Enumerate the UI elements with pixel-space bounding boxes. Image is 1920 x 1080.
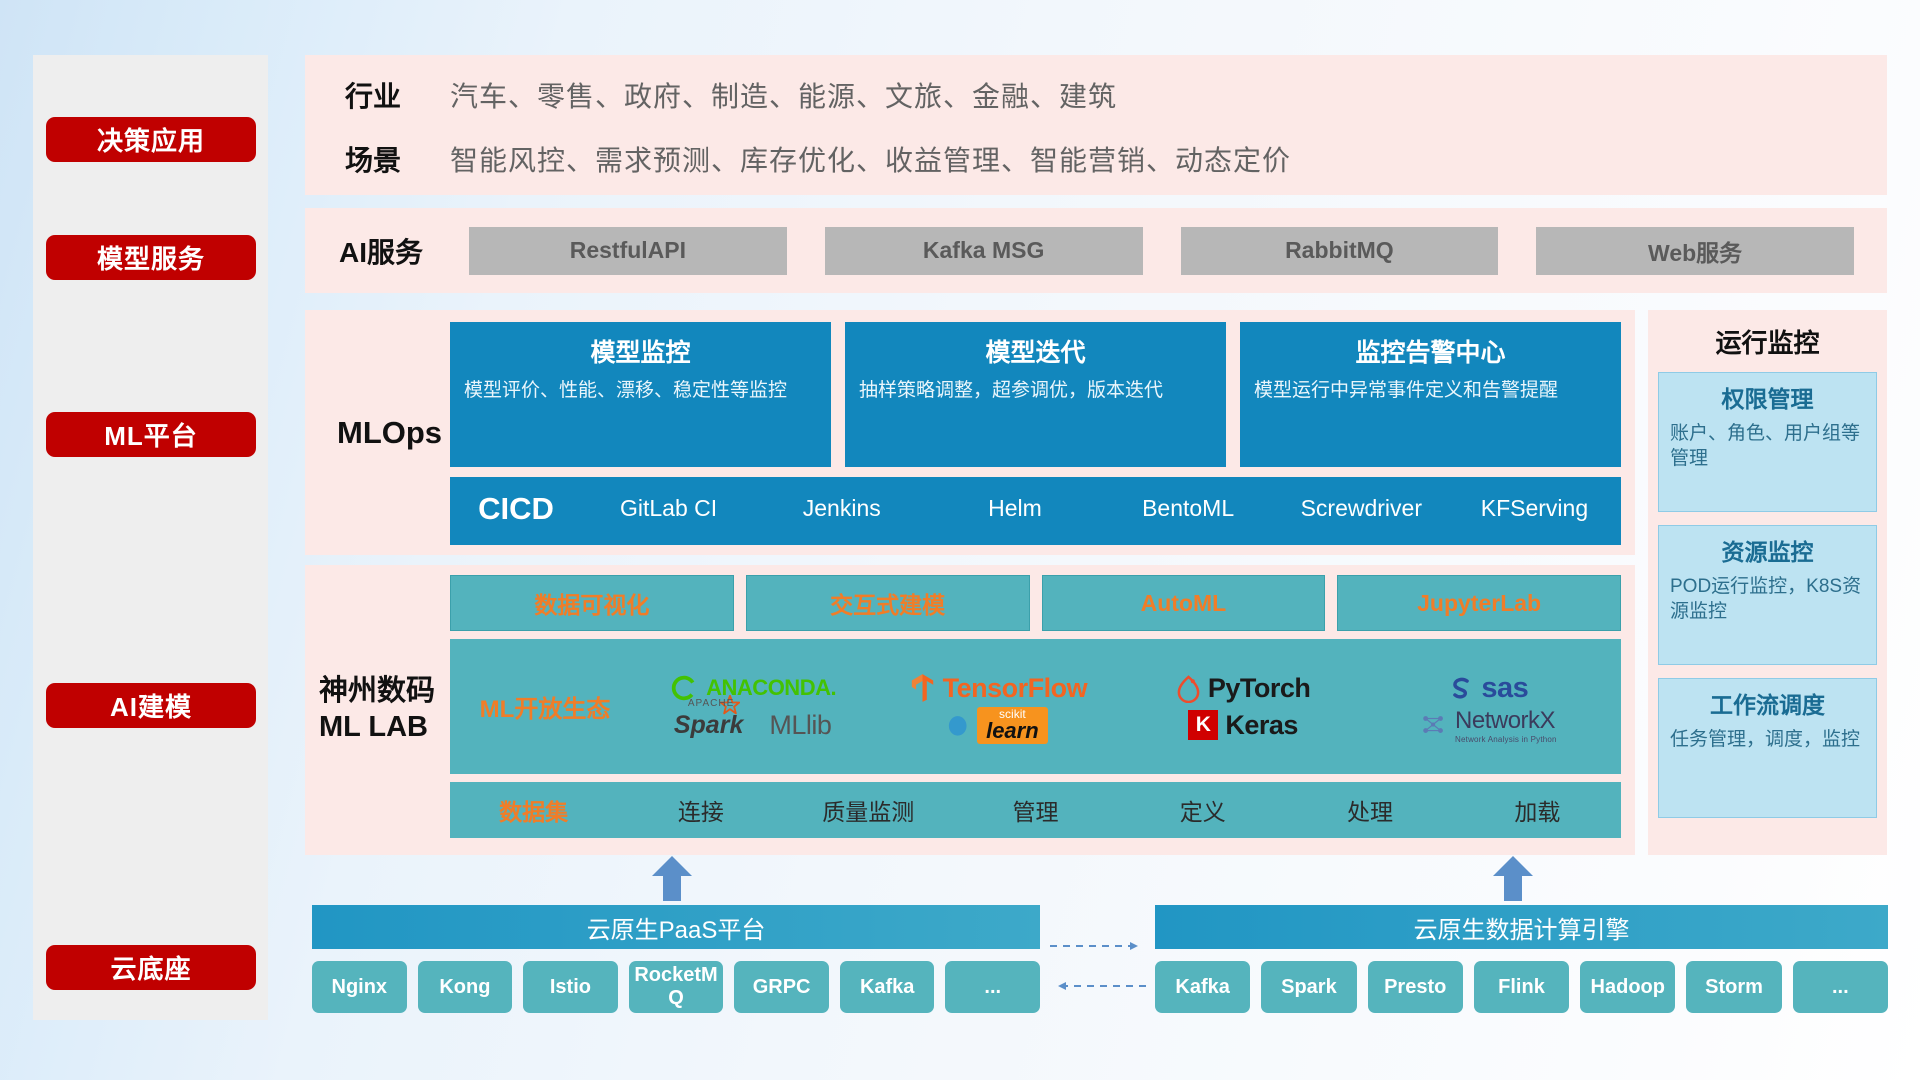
card-title: 权限管理: [1670, 380, 1865, 414]
monitor-card-resource[interactable]: 资源监控 POD运行监控，K8S资源监控: [1658, 525, 1877, 665]
spark-apache-text: APACHE: [688, 698, 734, 709]
scenario-value: 智能风控、需求预测、库存优化、收益管理、智能营销、动态定价: [450, 139, 1291, 179]
cloud-compute-title: 云原生数据计算引擎: [1155, 905, 1888, 949]
runtime-monitor-panel: 运行监控 权限管理 账户、角色、用户组等管理 资源监控 POD运行监控，K8S资…: [1648, 310, 1887, 855]
lab-tool-jupyterlab[interactable]: JupyterLab: [1337, 575, 1621, 631]
spark-wordmark: Spark: [674, 711, 743, 740]
mlops-band: MLOps 模型监控 模型评价、性能、漂移、稳定性等监控 模型迭代 抽样策略调整…: [305, 310, 1635, 555]
networkx-icon: [1420, 712, 1448, 738]
pytorch-icon: [1176, 674, 1201, 703]
cicd-label: CICD: [450, 477, 582, 527]
rail-chip-cloud-base[interactable]: 云底座: [46, 945, 256, 990]
rail-chip-decision-app[interactable]: 决策应用: [46, 117, 256, 162]
card-title: 模型监控: [464, 333, 817, 369]
card-desc: 模型评价、性能、漂移、稳定性等监控: [464, 378, 817, 403]
networkx-wordmark: NetworkX: [1455, 707, 1557, 735]
architecture-diagram: 决策应用 模型服务 ML平台 AI建模 云底座 行业 汽车、零售、政府、制造、能…: [0, 0, 1920, 1080]
cloud-paas-title: 云原生PaaS平台: [312, 905, 1040, 949]
tensorflow-logo: TensorFlow: [909, 673, 1088, 704]
cloud-tag-istio[interactable]: Istio: [523, 961, 618, 1013]
cicd-item-screwdriver[interactable]: Screwdriver: [1275, 477, 1448, 523]
card-desc: 任务管理，调度，监控: [1670, 727, 1865, 752]
cloud-tag-grpc[interactable]: GRPC: [734, 961, 829, 1013]
ml-open-ecosystem: ML开放生态 ANACONDA.: [450, 639, 1621, 774]
dataset-item-process[interactable]: 处理: [1286, 793, 1453, 827]
cicd-item-gitlab-ci[interactable]: GitLab CI: [582, 477, 755, 523]
runtime-monitor-title: 运行监控: [1658, 323, 1877, 360]
card-desc: 模型运行中异常事件定义和告警提醒: [1254, 378, 1607, 403]
rail-chip-ml-platform[interactable]: ML平台: [46, 412, 256, 457]
lab-tool-automl[interactable]: AutoML: [1042, 575, 1326, 631]
dataset-item-define[interactable]: 定义: [1119, 793, 1286, 827]
keras-logo: K Keras: [1188, 710, 1298, 741]
cicd-item-helm[interactable]: Helm: [928, 477, 1101, 523]
mlops-label: MLOps: [305, 310, 450, 555]
cloud-compute-tags: Kafka Spark Presto Flink Hadoop Storm ..…: [1155, 961, 1888, 1013]
networkx-logo: NetworkX Network Analysis in Python: [1420, 707, 1557, 744]
ai-service-items: RestfulAPI Kafka MSG RabbitMQ Web服务: [450, 227, 1887, 275]
dataset-item-manage[interactable]: 管理: [952, 793, 1119, 827]
industry-label: 行业: [305, 75, 450, 115]
dataset-label: 数据集: [450, 793, 617, 827]
mlops-card-model-iteration[interactable]: 模型迭代 抽样策略调整，超参调优，版本迭代: [845, 322, 1226, 467]
ai-service-band: AI服务 RestfulAPI Kafka MSG RabbitMQ Web服务: [305, 208, 1887, 293]
card-desc: 账户、角色、用户组等管理: [1670, 421, 1865, 472]
rail-chip-ai-modeling[interactable]: AI建模: [46, 683, 256, 728]
cloud-tag-more[interactable]: ...: [945, 961, 1040, 1013]
dataset-item-load[interactable]: 加载: [1454, 793, 1621, 827]
ml-lab-body: 数据可视化 交互式建模 AutoML JupyterLab ML开放生态 ANA…: [450, 565, 1635, 855]
mllib-wordmark: MLlib: [769, 710, 831, 741]
cicd-item-bentoml[interactable]: BentoML: [1102, 477, 1275, 523]
scikit-learn-logo: scikit learn: [948, 707, 1048, 744]
compute-tag-kafka[interactable]: Kafka: [1155, 961, 1250, 1013]
compute-tag-flink[interactable]: Flink: [1474, 961, 1569, 1013]
service-chip-rabbitmq[interactable]: RabbitMQ: [1181, 227, 1499, 275]
card-title: 工作流调度: [1670, 686, 1865, 720]
scenario-label: 场景: [305, 139, 450, 179]
dataset-item-quality[interactable]: 质量监测: [785, 793, 952, 827]
learn-text: learn: [986, 720, 1039, 742]
compute-tag-spark[interactable]: Spark: [1261, 961, 1356, 1013]
lab-tool-interactive-modeling[interactable]: 交互式建模: [746, 575, 1030, 631]
mlops-body: 模型监控 模型评价、性能、漂移、稳定性等监控 模型迭代 抽样策略调整，超参调优，…: [450, 310, 1635, 555]
ml-lab-band: 神州数码 ML LAB 数据可视化 交互式建模 AutoML JupyterLa…: [305, 565, 1635, 855]
cloud-tag-kafka[interactable]: Kafka: [840, 961, 935, 1013]
sas-logo: sas: [1448, 672, 1528, 705]
application-band: 行业 汽车、零售、政府、制造、能源、文旅、金融、建筑 场景 智能风控、需求预测、…: [305, 55, 1887, 195]
card-title: 监控告警中心: [1254, 333, 1607, 369]
dataset-row: 数据集 连接 质量监测 管理 定义 处理 加载: [450, 782, 1621, 838]
sas-icon: [1448, 675, 1474, 701]
compute-tag-more[interactable]: ...: [1793, 961, 1888, 1013]
scikit-learn-icon: [948, 712, 978, 738]
tensorflow-wordmark: TensorFlow: [943, 673, 1088, 704]
service-chip-restfulapi[interactable]: RestfulAPI: [469, 227, 787, 275]
card-title: 模型迭代: [859, 333, 1212, 369]
ml-lab-label-line2: ML LAB: [319, 710, 450, 746]
pytorch-logo: PyTorch: [1176, 673, 1311, 704]
lab-tool-data-visualization[interactable]: 数据可视化: [450, 575, 734, 631]
scenario-row: 场景 智能风控、需求预测、库存优化、收益管理、智能营销、动态定价: [305, 127, 1887, 191]
left-rail: 决策应用 模型服务 ML平台 AI建模 云底座: [33, 55, 268, 1020]
card-title: 资源监控: [1670, 533, 1865, 567]
mlops-card-alert-center[interactable]: 监控告警中心 模型运行中异常事件定义和告警提醒: [1240, 322, 1621, 467]
pytorch-wordmark: PyTorch: [1208, 673, 1311, 704]
service-chip-kafka-msg[interactable]: Kafka MSG: [825, 227, 1143, 275]
compute-tag-hadoop[interactable]: Hadoop: [1580, 961, 1675, 1013]
sas-wordmark: sas: [1481, 672, 1528, 705]
cloud-tag-kong[interactable]: Kong: [418, 961, 513, 1013]
ecosystem-logo-grid: ANACONDA. TensorFlow: [630, 670, 1611, 744]
rail-chip-model-service[interactable]: 模型服务: [46, 235, 256, 280]
ml-lab-label-line1: 神州数码: [319, 674, 450, 710]
tensorflow-icon: [909, 673, 936, 703]
networkx-tagline: Network Analysis in Python: [1455, 735, 1557, 744]
mlops-card-model-monitoring[interactable]: 模型监控 模型评价、性能、漂移、稳定性等监控: [450, 322, 831, 467]
keras-icon: K: [1188, 710, 1218, 740]
ml-open-ecosystem-label: ML开放生态: [460, 689, 630, 724]
cloud-compute-group: 云原生数据计算引擎 Kafka Spark Presto Flink Hadoo…: [1155, 905, 1888, 1013]
ml-lab-label: 神州数码 ML LAB: [305, 565, 450, 855]
monitor-card-workflow[interactable]: 工作流调度 任务管理，调度，监控: [1658, 678, 1877, 818]
card-desc: 抽样策略调整，超参调优，版本迭代: [859, 378, 1212, 403]
card-desc: POD运行监控，K8S资源监控: [1670, 574, 1865, 625]
dashed-link-icon: [1046, 932, 1150, 1002]
ml-lab-tools: 数据可视化 交互式建模 AutoML JupyterLab: [450, 575, 1621, 631]
cicd-item-kfserving[interactable]: KFServing: [1448, 477, 1621, 523]
industry-row: 行业 汽车、零售、政府、制造、能源、文旅、金融、建筑: [305, 63, 1887, 127]
industry-value: 汽车、零售、政府、制造、能源、文旅、金融、建筑: [450, 75, 1117, 115]
cicd-item-jenkins[interactable]: Jenkins: [755, 477, 928, 523]
ai-service-label: AI服务: [305, 231, 450, 271]
cloud-tag-nginx[interactable]: Nginx: [312, 961, 407, 1013]
spark-mllib-logo: APACHE Spark MLlib: [674, 710, 832, 741]
mlops-cards: 模型监控 模型评价、性能、漂移、稳定性等监控 模型迭代 抽样策略调整，超参调优，…: [450, 322, 1621, 467]
monitor-card-permission[interactable]: 权限管理 账户、角色、用户组等管理: [1658, 372, 1877, 512]
up-arrow-right-icon: [1490, 855, 1536, 901]
cicd-row: CICD GitLab CI Jenkins Helm BentoML Scre…: [450, 477, 1621, 545]
cloud-tag-rocketmq[interactable]: RocketMQ: [629, 961, 724, 1013]
cloud-paas-group: 云原生PaaS平台 Nginx Kong Istio RocketMQ GRPC…: [312, 905, 1040, 1013]
compute-tag-storm[interactable]: Storm: [1686, 961, 1781, 1013]
service-chip-web-service[interactable]: Web服务: [1536, 227, 1854, 275]
compute-tag-presto[interactable]: Presto: [1368, 961, 1463, 1013]
up-arrow-left-icon: [649, 855, 695, 901]
dataset-item-connect[interactable]: 连接: [617, 793, 784, 827]
cloud-paas-tags: Nginx Kong Istio RocketMQ GRPC Kafka ...: [312, 961, 1040, 1013]
keras-wordmark: Keras: [1225, 710, 1298, 741]
